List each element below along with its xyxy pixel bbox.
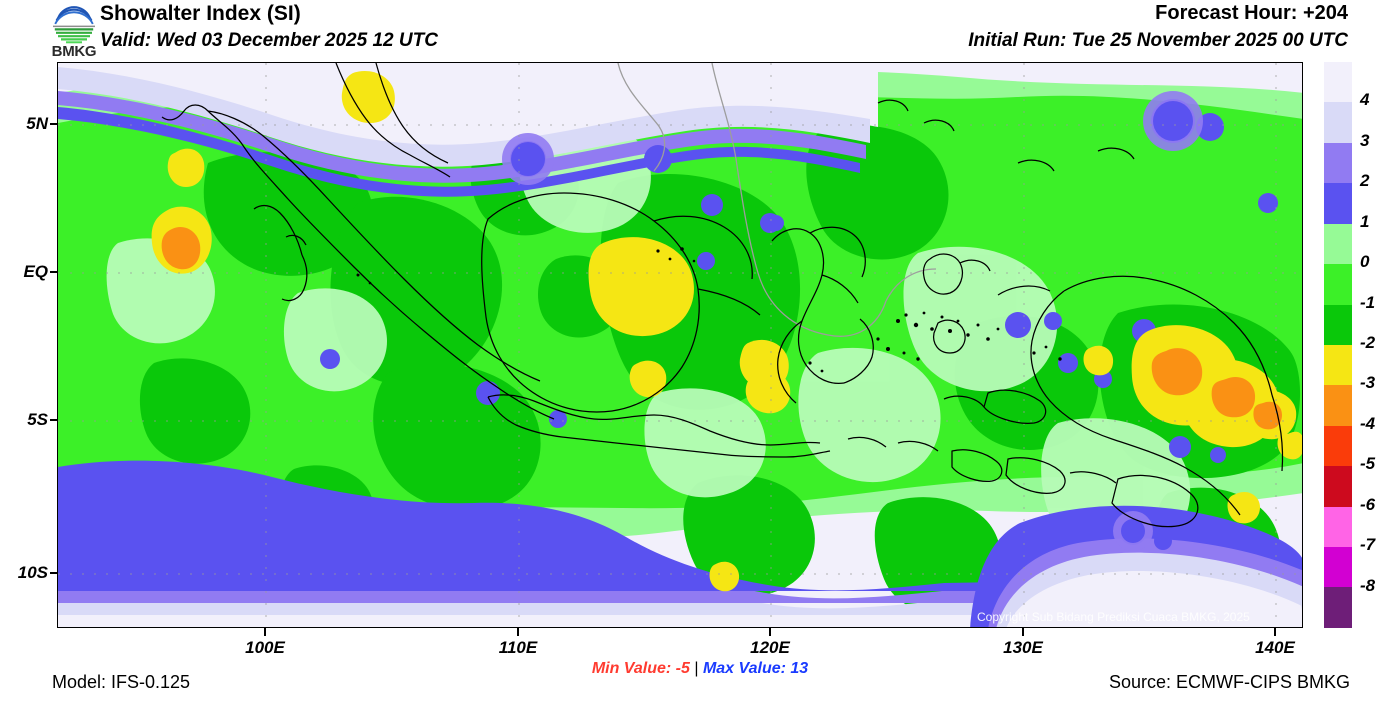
colorbar-band-12 <box>1324 547 1352 587</box>
y-tick-5s: 5S <box>2 410 48 430</box>
colorbar-band-1 <box>1324 102 1352 142</box>
x-tick-100e: 100E <box>225 638 305 658</box>
colorbar-tick-neg6: -6 <box>1360 495 1375 515</box>
y-tickmark <box>50 572 58 574</box>
colorbar-band-4 <box>1324 224 1352 264</box>
colorbar-tick-neg7: -7 <box>1360 535 1375 555</box>
y-tickmark <box>50 123 58 125</box>
x-tick-140e: 140E <box>1235 638 1315 658</box>
y-tickmark <box>50 271 58 273</box>
min-value-label: Min Value: -5 <box>592 660 690 677</box>
colorbar-tick-neg2: -2 <box>1360 333 1375 353</box>
colorbar-tick-4: 4 <box>1360 90 1369 110</box>
contour-fill-layer <box>58 63 1303 628</box>
colorbar-band-8 <box>1324 385 1352 425</box>
map-plot-area[interactable] <box>57 62 1303 628</box>
colorbar-tick-2: 2 <box>1360 171 1369 191</box>
colorbar-tick-neg1: -1 <box>1360 293 1375 313</box>
colorbar-tick-1: 1 <box>1360 212 1369 232</box>
initial-run: Initial Run: Tue 25 November 2025 00 UTC <box>968 30 1348 52</box>
x-tickmark <box>264 628 266 636</box>
colorbar-tick-3: 3 <box>1360 131 1369 151</box>
y-tick-eq: EQ <box>2 262 48 282</box>
bmkg-logo-icon <box>40 3 108 47</box>
minmax-separator: | <box>690 660 703 677</box>
bmkg-logo-text: BMKG <box>40 43 108 60</box>
colorbar-band-0 <box>1324 62 1352 102</box>
colorbar-band-10 <box>1324 466 1352 506</box>
x-tick-110e: 110E <box>478 638 558 658</box>
x-tick-120e: 120E <box>730 638 810 658</box>
x-tickmark <box>1022 628 1024 636</box>
max-value-label: Max Value: 13 <box>703 660 808 677</box>
colorbar[interactable] <box>1324 62 1352 628</box>
x-tickmark <box>769 628 771 636</box>
y-tickmark <box>50 419 58 421</box>
x-tickmark <box>517 628 519 636</box>
forecast-hour: Forecast Hour: +204 <box>1155 2 1348 25</box>
colorbar-band-3 <box>1324 183 1352 223</box>
colorbar-band-13 <box>1324 587 1352 627</box>
y-tick-5n: 5N <box>2 114 48 134</box>
minmax-readout: Min Value: -5 | Max Value: 13 <box>0 660 1400 678</box>
page-header: BMKG Showalter Index (SI) Valid: Wed 03 … <box>0 0 1400 60</box>
colorbar-band-7 <box>1324 345 1352 385</box>
colorbar-tick-0: 0 <box>1360 252 1369 272</box>
showalter-index-heatmap <box>58 63 1303 628</box>
colorbar-tick-neg5: -5 <box>1360 454 1375 474</box>
valid-time: Valid: Wed 03 December 2025 12 UTC <box>100 30 438 52</box>
copyright-watermark: Copyright Sub Bidang Prediksi Cuaca BMKG… <box>977 610 1250 624</box>
colorbar-band-2 <box>1324 143 1352 183</box>
colorbar-band-6 <box>1324 305 1352 345</box>
page-title: Showalter Index (SI) <box>100 2 301 26</box>
x-tickmark <box>1274 628 1276 636</box>
y-tick-10s: 10S <box>2 563 48 583</box>
colorbar-tick-neg4: -4 <box>1360 414 1375 434</box>
colorbar-band-9 <box>1324 426 1352 466</box>
x-tick-130e: 130E <box>983 638 1063 658</box>
colorbar-band-5 <box>1324 264 1352 304</box>
colorbar-tick-neg3: -3 <box>1360 373 1375 393</box>
bmkg-logo: BMKG <box>40 3 108 59</box>
colorbar-tick-neg8: -8 <box>1360 576 1375 596</box>
colorbar-band-11 <box>1324 507 1352 547</box>
